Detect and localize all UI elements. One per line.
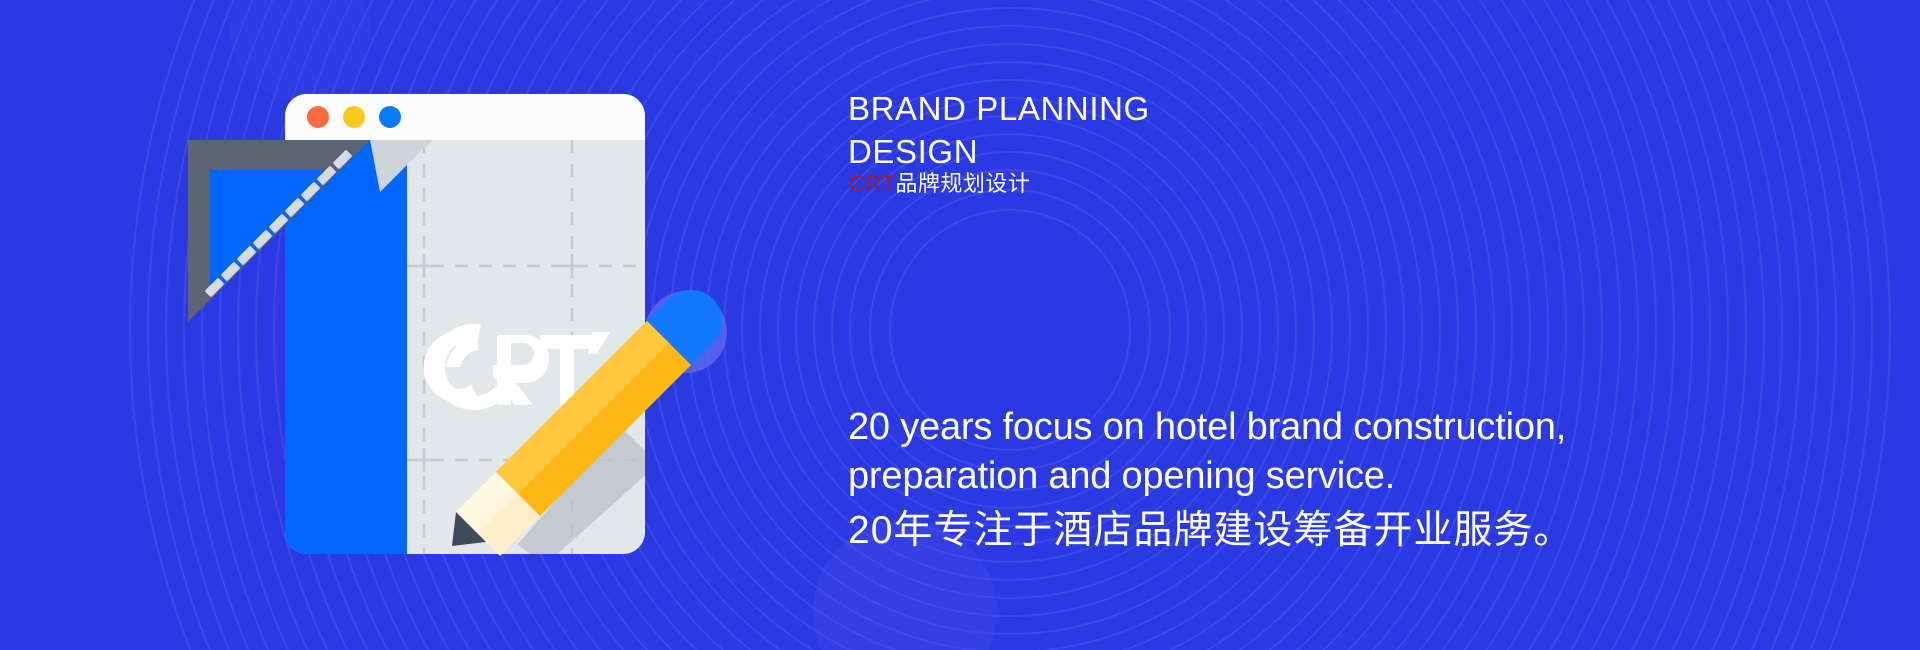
brand-subtitle-cn: 品牌规划设计 bbox=[895, 171, 1030, 196]
minimize-dot bbox=[343, 106, 365, 128]
brand-subtitle: CRT品牌规划设计 bbox=[849, 170, 1030, 198]
banner-text-column: BRAND PLANNING DESIGN CRT品牌规划设计 20 years… bbox=[848, 0, 1848, 650]
brand-code: CRT bbox=[849, 171, 895, 196]
brand-illustration bbox=[188, 74, 828, 574]
window-titlebar bbox=[285, 94, 645, 140]
brand-banner: BRAND PLANNING DESIGN CRT品牌规划设计 20 years… bbox=[0, 0, 1920, 650]
maximize-dot bbox=[379, 106, 401, 128]
page-title: BRAND PLANNING DESIGN bbox=[848, 88, 1368, 174]
tagline-english: 20 years focus on hotel brand constructi… bbox=[848, 403, 1678, 502]
tagline-chinese: 20年专注于酒店品牌建设筹备开业服务。 bbox=[848, 507, 1573, 556]
close-dot bbox=[307, 106, 329, 128]
